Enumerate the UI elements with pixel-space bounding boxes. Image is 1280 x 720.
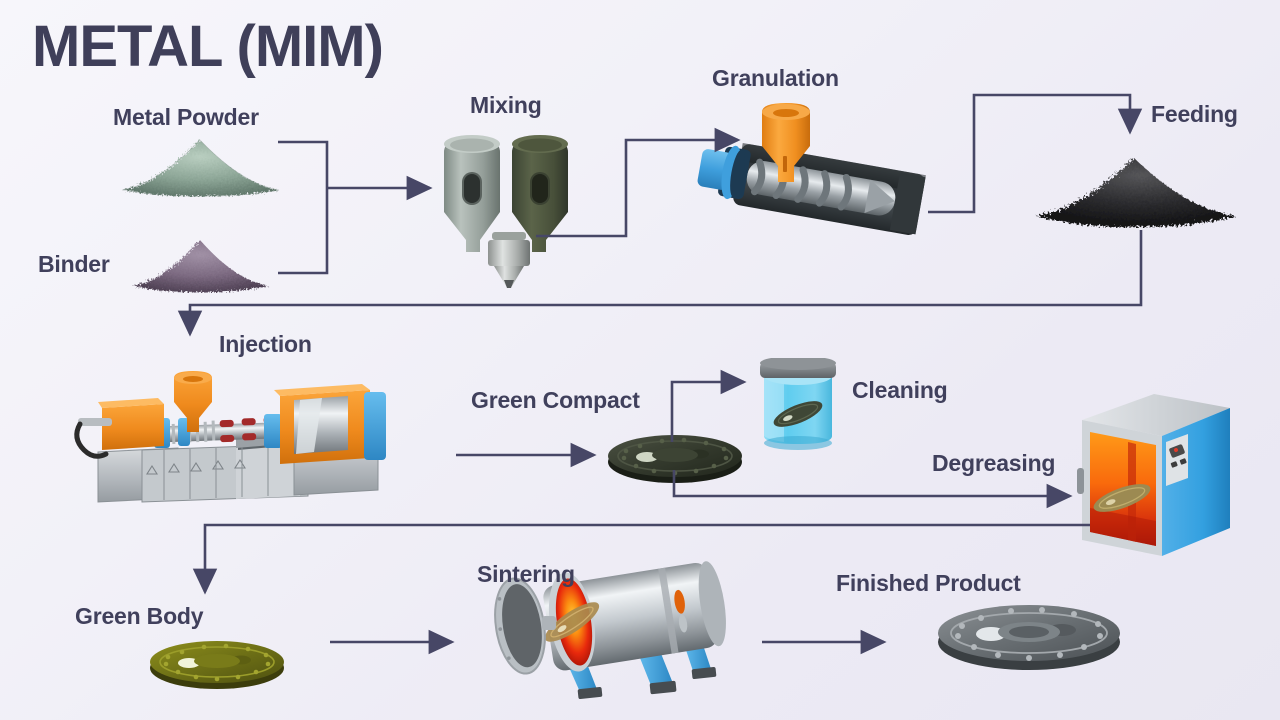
granulator-extruder <box>690 98 938 243</box>
page-title: METAL (MIM) <box>32 18 383 76</box>
binder-pile <box>128 233 273 293</box>
label-green-body: Green Body <box>75 603 203 630</box>
label-metal-powder: Metal Powder <box>113 104 259 131</box>
metal-powder-pile <box>118 132 283 197</box>
label-cleaning: Cleaning <box>852 377 948 404</box>
mixer-vessels <box>432 128 587 290</box>
label-binder: Binder <box>38 251 110 278</box>
label-sintering: Sintering <box>477 561 575 588</box>
label-finished-product: Finished Product <box>836 570 1021 597</box>
feedstock-pile <box>1030 150 1242 228</box>
injection-machine <box>68 370 428 515</box>
connector-powder-to-mixing <box>278 142 327 188</box>
connector-binder-to-mixing <box>278 188 327 273</box>
degreasing-oven <box>1076 390 1236 560</box>
finished-part <box>936 598 1122 672</box>
label-mixing: Mixing <box>470 92 542 119</box>
green-body-part <box>148 636 286 692</box>
label-injection: Injection <box>219 331 312 358</box>
label-feeding: Feeding <box>1151 101 1238 128</box>
green-compact-part <box>606 430 744 486</box>
label-degreasing: Degreasing <box>932 450 1055 477</box>
cleaning-jar <box>752 358 844 450</box>
label-granulation: Granulation <box>712 65 839 92</box>
label-green-compact: Green Compact <box>471 387 640 414</box>
connector-feeding-to-injection <box>190 230 1141 334</box>
mim-process-diagram: METAL (MIM) <box>0 0 1280 720</box>
